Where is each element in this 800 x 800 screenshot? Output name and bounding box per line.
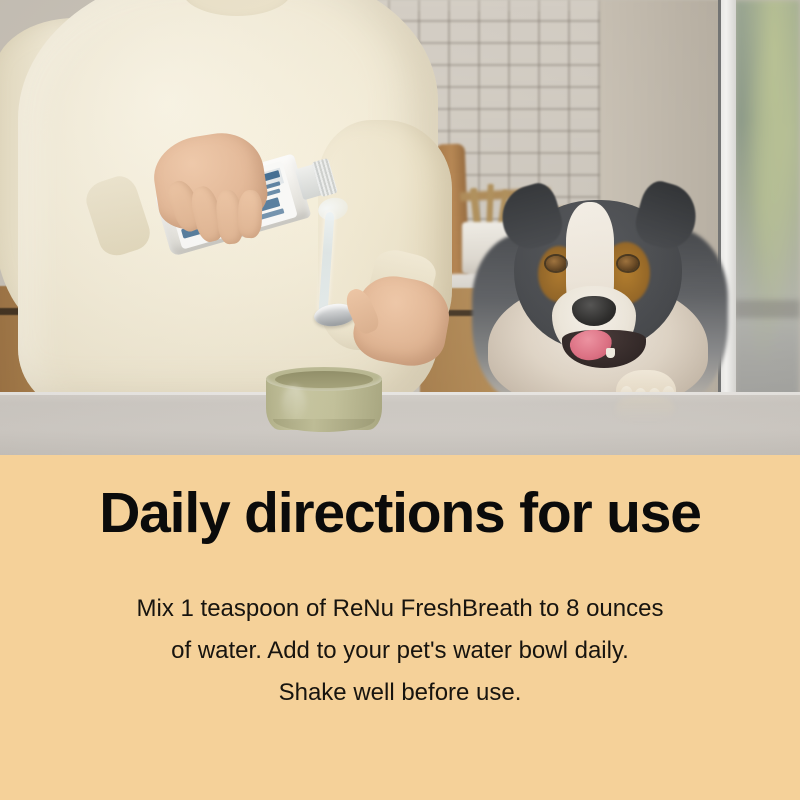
directions-panel: Daily directions for use Mix 1 teaspoon … (0, 455, 800, 800)
dog-tooth (606, 348, 615, 358)
directions-line-3: Shake well before use. (137, 672, 664, 714)
product-lifestyle-photo (0, 0, 800, 455)
pet-water-bowl (266, 367, 382, 435)
paw-reflection (616, 396, 674, 422)
directions-line-2: of water. Add to your pet's water bowl d… (137, 630, 664, 672)
directions-line-1: Mix 1 teaspoon of ReNu FreshBreath to 8 … (137, 588, 664, 630)
australian-shepherd-dog (478, 190, 728, 405)
window-sill (734, 300, 800, 318)
window-glass-foliage (734, 0, 800, 430)
page-title: Daily directions for use (99, 485, 701, 542)
dog-eye-left (546, 256, 566, 271)
kitchen-window (718, 0, 800, 430)
dog-eye-right (618, 256, 638, 271)
kitchen-countertop (0, 392, 800, 455)
directions-body: Mix 1 teaspoon of ReNu FreshBreath to 8 … (97, 588, 704, 714)
countertop-edge-highlight (0, 392, 800, 395)
promo-card: Daily directions for use Mix 1 teaspoon … (0, 0, 800, 800)
finger-4 (237, 190, 263, 239)
bowl-highlight (282, 385, 306, 423)
